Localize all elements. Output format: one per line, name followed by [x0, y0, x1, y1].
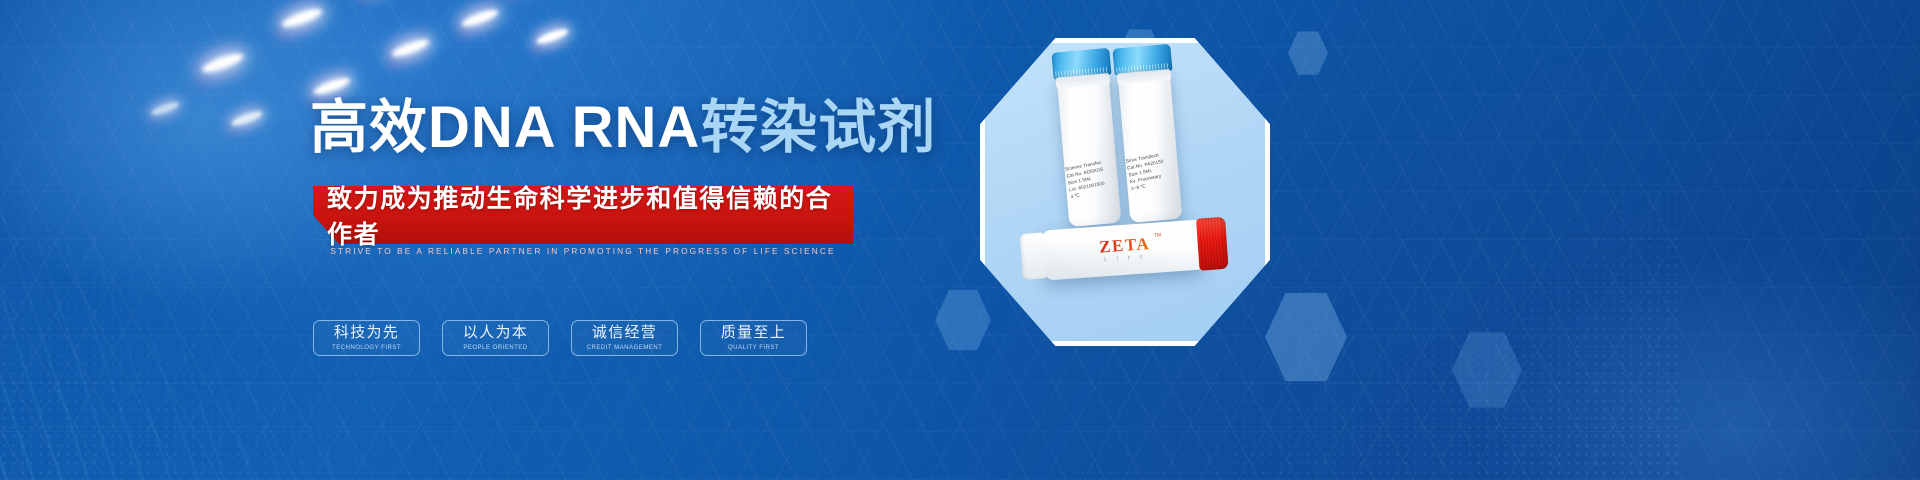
vial-label-right: Sirus Transfecti Cat.No. PA20150 Size 1.… — [1125, 149, 1179, 193]
vial-upright-left: Science Transfec Cat.No. AD50015 Size 1.… — [1057, 73, 1122, 227]
pill-label-cn: 科技为先 — [334, 325, 399, 341]
promo-banner: Science Transfec Cat.No. AD50015 Size 1.… — [0, 0, 1920, 480]
feature-pill-people-oriented[interactable]: 以人为本 PEOPLE ORIENTED — [442, 320, 549, 356]
pill-label-cn: 质量至上 — [721, 325, 786, 341]
zeta-life-logo: ZETA TM L I F E — [1088, 234, 1162, 264]
vial-label-left: Science Transfec Cat.No. AD50015 Size 1.… — [1065, 157, 1119, 201]
pill-label-en: PEOPLE ORIENTED — [463, 344, 527, 351]
title-white-segment: 高效DNA RNA — [310, 95, 700, 160]
banner-text-content: 高效DNA RNA转染试剂 致力成为推动生命科学进步和值得信赖的合作者 STRI… — [0, 0, 1060, 480]
pill-label-cn: 诚信经营 — [592, 325, 657, 341]
pill-label-en: TECHNOLOGY FIRST — [332, 344, 401, 351]
trademark-symbol: TM — [1154, 232, 1162, 238]
hexagon-decor-bottom-right — [1265, 290, 1347, 384]
pill-label-en: CREDIT MANAGEMENT — [587, 344, 663, 351]
feature-pill-credit-management[interactable]: 诚信经营 CREDIT MANAGEMENT — [571, 320, 678, 356]
red-ribbon: 致力成为推动生命科学进步和值得信赖的合作者 — [313, 186, 853, 244]
ribbon-english-subtitle: STRIVE TO BE A RELIABLE PARTNER IN PROMO… — [313, 246, 853, 256]
feature-pill-quality-first[interactable]: 质量至上 QUALITY FIRST — [700, 320, 807, 356]
title-highlight-segment: 转染试剂 — [700, 95, 936, 160]
hexagon-decor-far-right — [1452, 330, 1522, 410]
vial-horizontal-zeta: ZETA TM L I F E — [1041, 220, 1202, 281]
banner-title: 高效DNA RNA转染试剂 — [310, 99, 936, 157]
vial-cap-red — [1196, 217, 1229, 271]
feature-pill-technology-first[interactable]: 科技为先 TECHNOLOGY FIRST — [313, 320, 420, 356]
zeta-wordmark: ZETA — [1088, 234, 1161, 256]
pill-label-cn: 以人为本 — [463, 325, 528, 341]
ribbon-slogan: 致力成为推动生命科学进步和值得信赖的合作者 — [313, 186, 853, 244]
hexagon-decor-upper-right — [1288, 30, 1328, 76]
feature-pill-list: 科技为先 TECHNOLOGY FIRST 以人为本 PEOPLE ORIENT… — [313, 320, 807, 356]
background-glow-bottom-right — [1360, 170, 1920, 480]
vial-upright-right: Sirus Transfecti Cat.No. PA20150 Size 1.… — [1118, 69, 1183, 223]
pill-label-en: QUALITY FIRST — [728, 344, 779, 351]
